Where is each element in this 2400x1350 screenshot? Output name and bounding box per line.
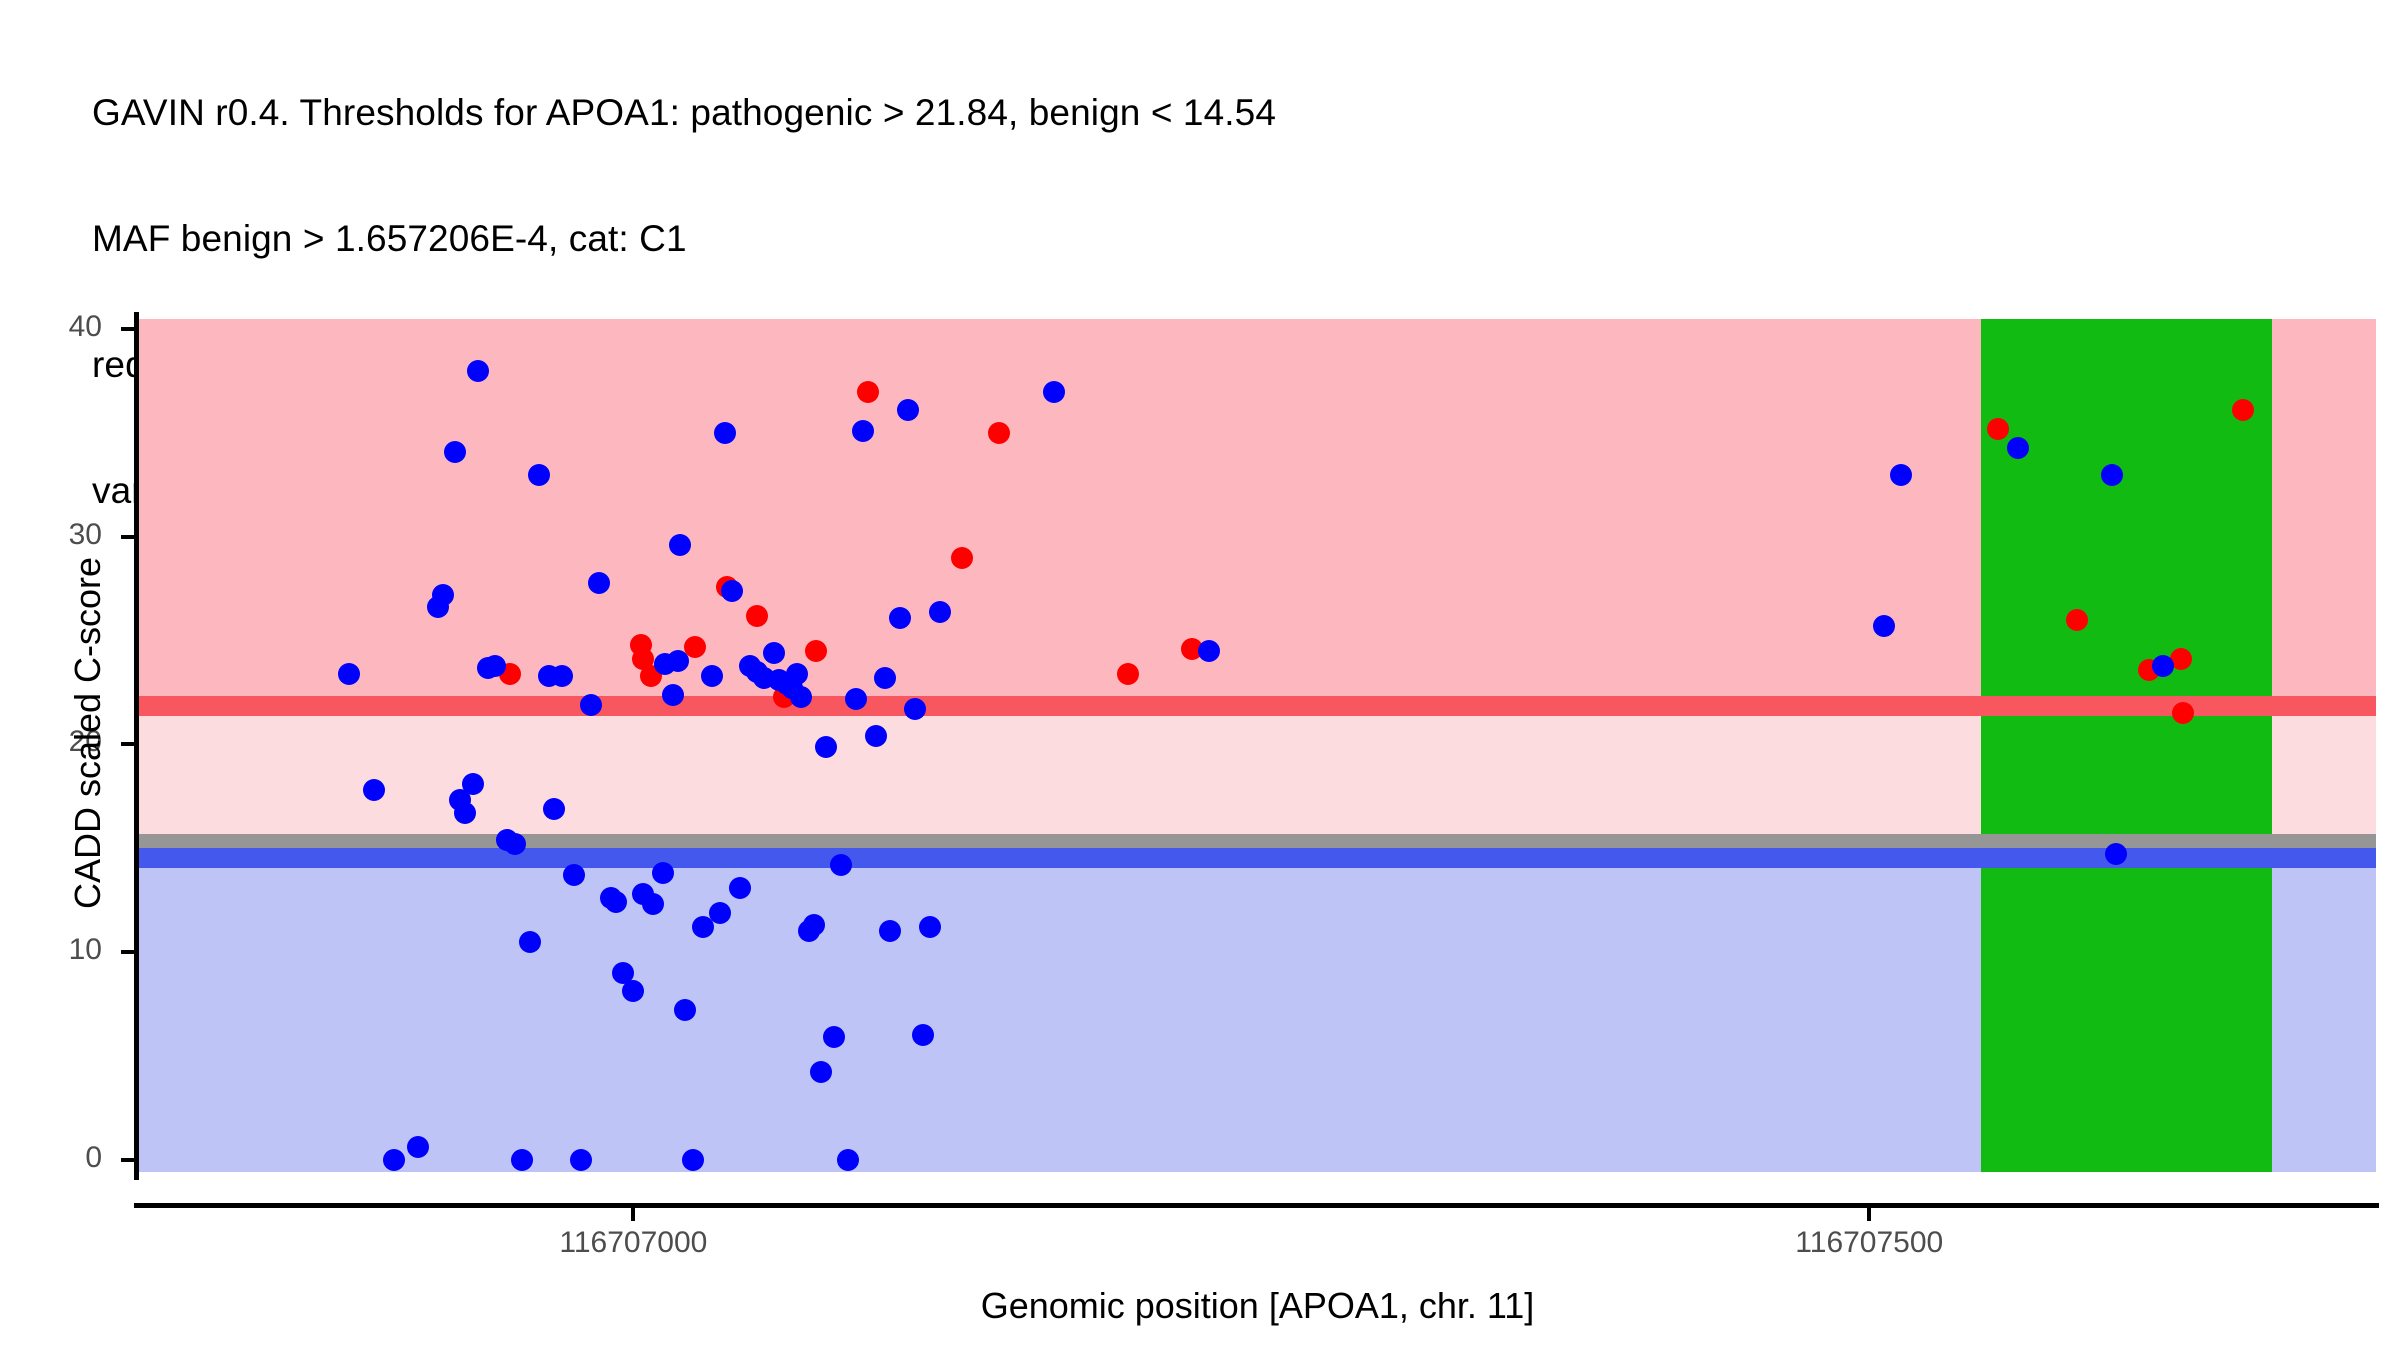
threshold-line: [139, 848, 2376, 868]
scatter-point: [1043, 381, 1065, 403]
scatter-point: [815, 736, 837, 758]
scatter-point: [1117, 663, 1139, 685]
y-axis-tick: [121, 950, 134, 954]
scatter-point: [652, 862, 674, 884]
scatter-point: [383, 1149, 405, 1171]
scatter-point: [2066, 609, 2088, 631]
scatter-point: [462, 773, 484, 795]
scatter-point: [919, 916, 941, 938]
scatter-point: [714, 422, 736, 444]
x-axis-tick-label: 116707500: [1795, 1226, 1943, 1260]
scatter-point: [2007, 437, 2029, 459]
scatter-point: [1987, 418, 2009, 440]
plot-panel: [139, 319, 2376, 1172]
scatter-point: [2232, 399, 2254, 421]
scatter-point: [511, 1149, 533, 1171]
y-axis-tick: [121, 535, 134, 539]
scatter-point: [504, 833, 526, 855]
x-axis-line: [134, 1203, 2379, 1208]
y-axis-tick-label: 0: [85, 1141, 102, 1175]
scatter-point: [588, 572, 610, 594]
scatter-point: [528, 464, 550, 486]
scatter-point: [889, 607, 911, 629]
scatter-point: [519, 931, 541, 953]
scatter-point: [897, 399, 919, 421]
scatter-point: [682, 1149, 704, 1171]
scatter-point: [2101, 464, 2123, 486]
scatter-point: [484, 655, 506, 677]
y-axis-line: [134, 312, 139, 1180]
scatter-point: [929, 601, 951, 623]
x-axis-label: Genomic position [APOA1, chr. 11]: [139, 1285, 2376, 1327]
scatter-point: [551, 665, 573, 687]
scatter-point: [662, 684, 684, 706]
scatter-point: [912, 1024, 934, 1046]
y-axis-tick: [121, 327, 134, 331]
scatter-point: [363, 779, 385, 801]
scatter-point: [790, 686, 812, 708]
y-axis-label: CADD scaled C-score: [67, 333, 109, 1133]
scatter-point: [746, 605, 768, 627]
scatter-point: [845, 688, 867, 710]
x-axis-tick: [1867, 1208, 1871, 1221]
title-line-1: GAVIN r0.4. Thresholds for APOA1: pathog…: [92, 92, 2382, 134]
scatter-point: [570, 1149, 592, 1171]
x-axis-tick: [631, 1208, 635, 1221]
threshold-line: [139, 696, 2376, 716]
y-axis-tick: [121, 1158, 134, 1162]
scatter-point: [721, 580, 743, 602]
scatter-point: [823, 1026, 845, 1048]
scatter-point: [467, 360, 489, 382]
scatter-point: [857, 381, 879, 403]
title-line-2: MAF benign > 1.657206E-4, cat: C1: [92, 218, 2382, 260]
scatter-point: [338, 663, 360, 685]
scatter-point: [865, 725, 887, 747]
scatter-point: [803, 914, 825, 936]
x-axis-tick-label: 116707000: [559, 1226, 707, 1260]
y-axis-tick: [121, 742, 134, 746]
scatter-point: [830, 854, 852, 876]
scatter-point: [786, 663, 808, 685]
scatter-point: [543, 798, 565, 820]
scatter-point: [951, 547, 973, 569]
scatter-point: [432, 584, 454, 606]
gavin-cadd-scatter-figure: GAVIN r0.4. Thresholds for APOA1: pathog…: [0, 0, 2400, 1350]
scatter-point: [837, 1149, 859, 1171]
scatter-point: [1890, 464, 1912, 486]
scatter-point: [709, 902, 731, 924]
scatter-point: [729, 877, 751, 899]
scatter-point: [2152, 655, 2174, 677]
